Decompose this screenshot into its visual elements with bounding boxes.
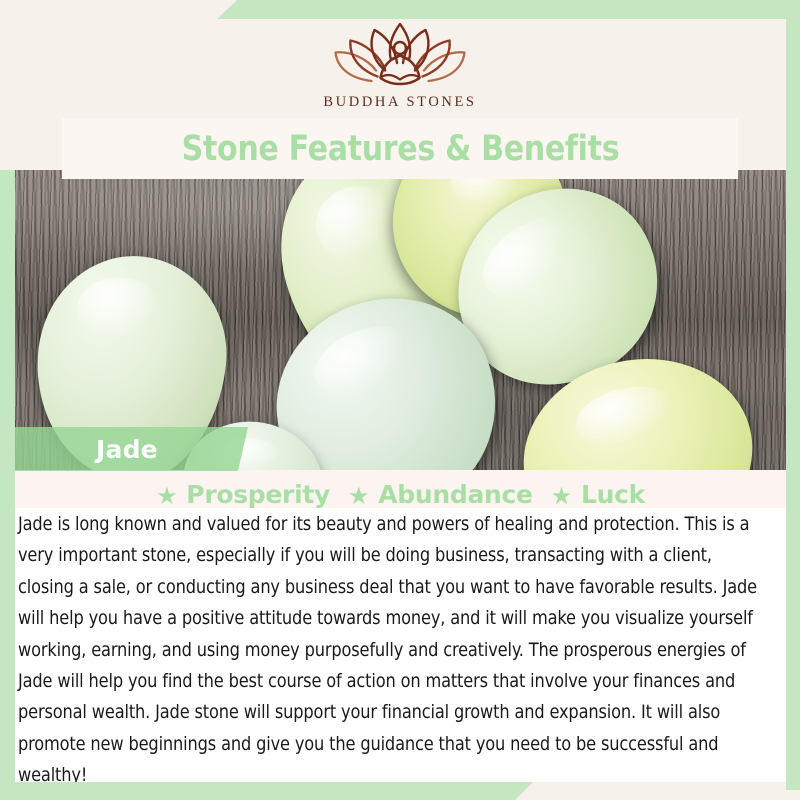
decoration-left-bar	[0, 170, 15, 790]
stone-name-label: Jade	[96, 435, 158, 464]
description-text: Jade is long known and valued for its be…	[18, 509, 772, 792]
description-panel: Jade is long known and valued for its be…	[15, 508, 786, 782]
content-panel: ★Prosperity★Abundance★Luck Jade is long …	[15, 470, 786, 782]
star-icon: ★	[551, 482, 572, 510]
title-plate: Stone Features & Benefits	[62, 118, 738, 179]
brand-logo: BUDDHA STONES	[0, 18, 800, 111]
stone-name-ribbon: Jade	[15, 427, 248, 471]
star-icon: ★	[348, 482, 369, 510]
star-icon: ★	[156, 482, 177, 510]
lotus-meditation-icon	[324, 18, 476, 90]
hero-image	[15, 170, 786, 470]
benefit-item-2: Abundance	[378, 480, 532, 509]
benefit-item-1: Prosperity	[186, 480, 330, 509]
decoration-bottom-bar	[0, 782, 533, 800]
benefit-item-3: Luck	[581, 480, 645, 509]
page-title: Stone Features & Benefits	[181, 129, 619, 169]
benefits-row: ★Prosperity★Abundance★Luck	[15, 480, 786, 510]
brand-name: BUDDHA STONES	[323, 94, 476, 111]
